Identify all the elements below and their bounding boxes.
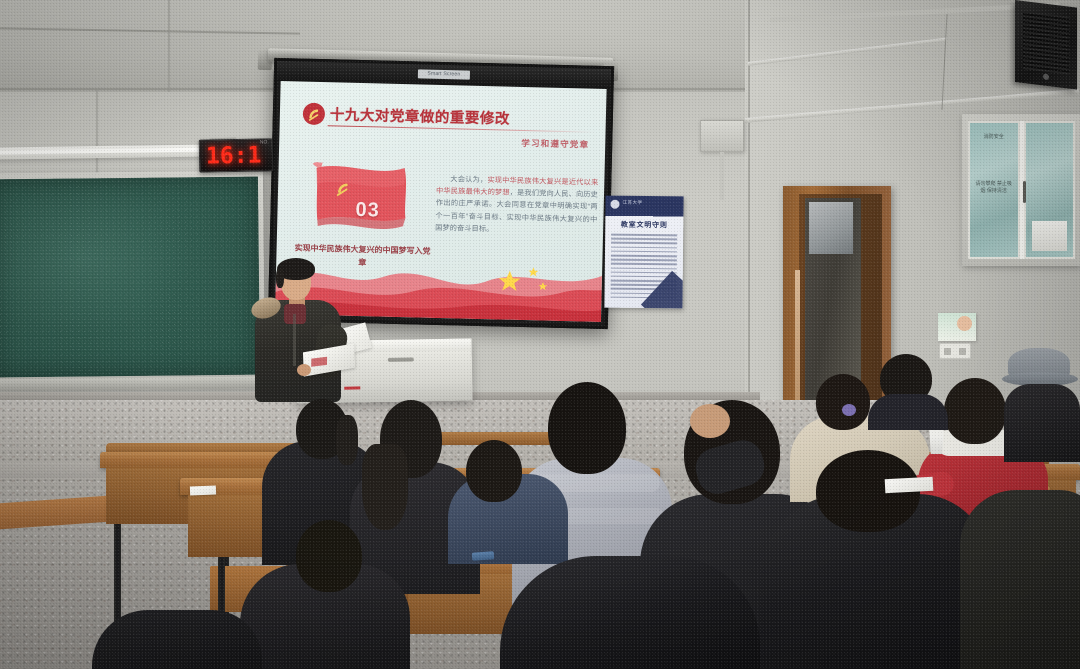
student-coat	[92, 610, 262, 669]
red-flag-graphic: 03	[303, 158, 425, 239]
speaker-grill	[1023, 11, 1069, 75]
light-tube	[0, 148, 212, 155]
paper-red-mark	[311, 357, 327, 367]
student-left-3	[240, 520, 410, 669]
window-frame: 消防安全 请勿攀爬 禁止吸烟 保持清洁	[968, 121, 1075, 259]
smartphone[interactable]	[472, 551, 495, 561]
wall-seam-2	[96, 90, 98, 180]
party-emblem-icon	[302, 102, 327, 127]
cup-lid	[927, 430, 946, 435]
student-coat	[960, 490, 1080, 669]
student-center-foreground	[500, 540, 760, 669]
wall-seam	[168, 0, 170, 92]
screen-brand-label: Smart Screen	[418, 69, 470, 79]
student-head-hair	[296, 520, 362, 592]
slide-body-text: 大会认为，实现中华民族伟大复兴是近代以来中华民族最伟大的梦想，是我们党向人民、向…	[435, 173, 598, 238]
utility-wall-box	[700, 120, 744, 152]
student-left-4	[92, 600, 262, 669]
door-window-glass	[809, 202, 853, 254]
notebook-paper[interactable]	[885, 477, 934, 493]
window-pane-left: 消防安全 请勿攀爬 禁止吸烟 保持清洁	[968, 121, 1020, 259]
classroom-rules-poster: 江苏大学 教室文明守则	[604, 196, 683, 309]
student-hand-on-head	[690, 404, 730, 438]
slide-section-number: 03	[355, 199, 380, 223]
classroom-scene: Smart Screen	[0, 0, 1080, 669]
flag-svg	[303, 158, 425, 239]
classroom-window[interactable]: 消防安全 请勿攀爬 禁止吸烟 保持清洁	[962, 114, 1080, 266]
window-handle[interactable]	[1023, 181, 1026, 203]
window-outside-building	[1032, 221, 1068, 251]
led-wall-clock: NO. 16:1	[199, 138, 274, 172]
student-right-5	[960, 470, 1080, 669]
clock-time-display: 16:1	[206, 143, 262, 170]
presenter-sideburn	[276, 268, 284, 288]
presenter-speaker	[243, 252, 351, 402]
slide-subtitle: 学习和遵守党章	[521, 137, 589, 151]
blackboard	[0, 171, 265, 392]
student-head-hair	[466, 440, 522, 502]
student-long-hair	[362, 444, 408, 530]
university-logo-icon	[610, 200, 619, 209]
chalk-dust	[0, 177, 260, 378]
window-pane-right	[1024, 121, 1076, 259]
university-name: 江苏大学	[622, 200, 642, 206]
poster-heading: 教室文明守则	[605, 220, 683, 231]
paper-cup[interactable]	[928, 430, 945, 454]
student-coat	[868, 394, 948, 430]
student-coat	[1004, 384, 1080, 462]
student-head-hair	[944, 378, 1006, 444]
poster-photo	[957, 316, 972, 331]
presenter-hand	[297, 364, 311, 376]
slide-body-lead: 大会认为，	[450, 174, 487, 184]
student-head-hair	[816, 374, 870, 430]
speaker-led	[1043, 73, 1049, 80]
slide-title: 十九大对党章做的重要修改	[330, 103, 510, 128]
hair-tie	[842, 404, 856, 416]
student-far-back-right	[868, 354, 948, 426]
lectern-handle-slot	[388, 357, 414, 361]
wall-speaker	[1015, 0, 1077, 90]
window-notice-text: 请勿攀爬 禁止吸烟 保持清洁	[974, 181, 1014, 195]
desk-paper-left[interactable]	[190, 486, 216, 496]
window-sign: 消防安全	[984, 133, 1004, 140]
student-right-3	[1002, 340, 1080, 460]
wall-conduit	[720, 152, 724, 200]
safety-notice-poster	[938, 313, 976, 341]
presenter-jacket-zipper	[293, 314, 296, 366]
blackboard-surface	[0, 177, 260, 378]
student-black-coat-foreground	[500, 556, 760, 669]
student-right-4	[760, 450, 990, 669]
